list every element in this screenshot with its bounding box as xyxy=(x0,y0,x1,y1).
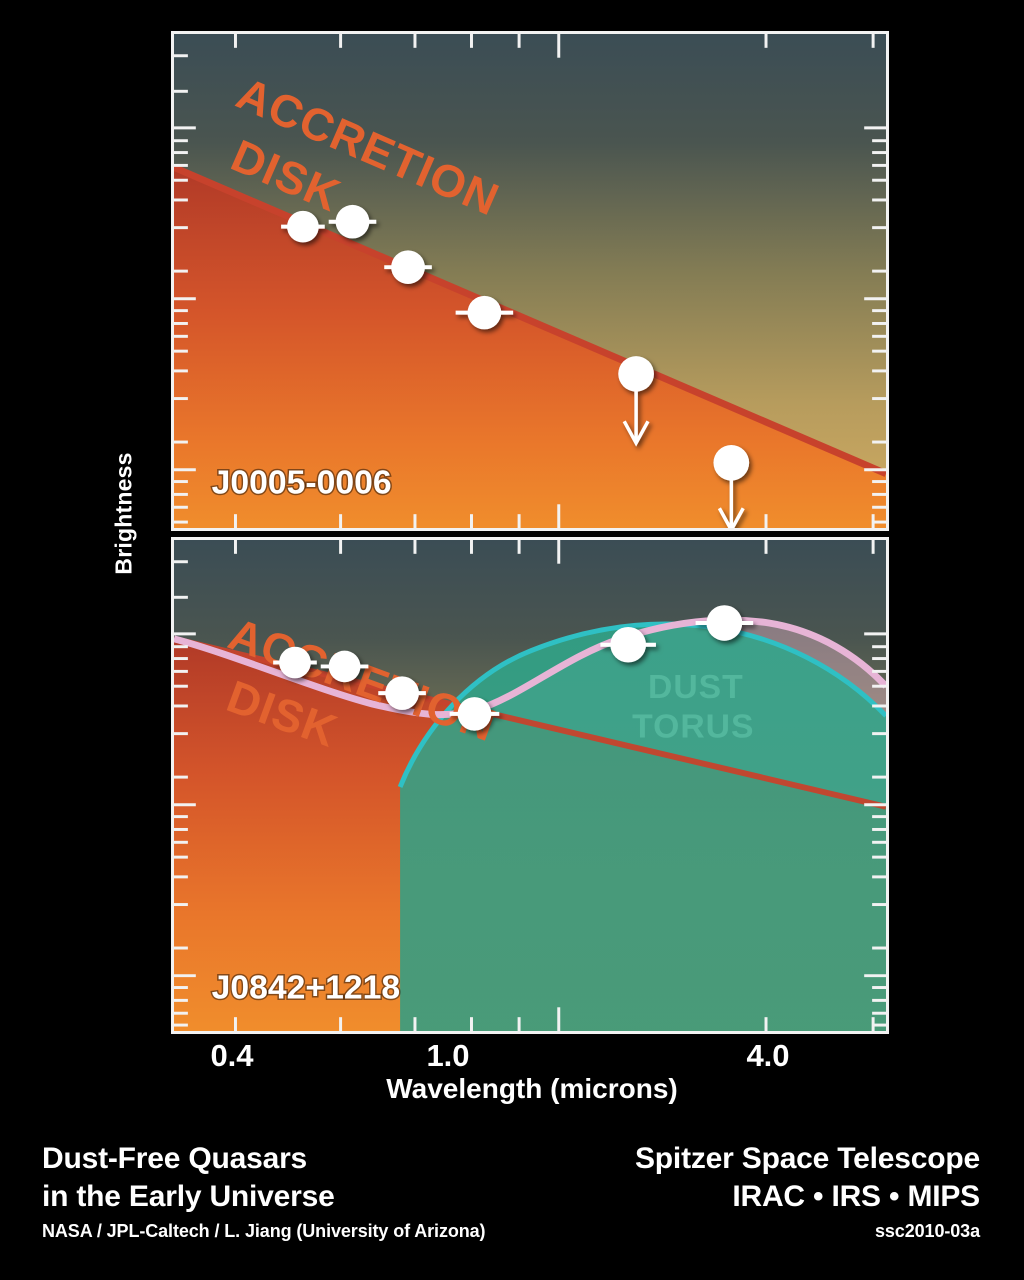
credits-bar: Dust-Free Quasars in the Early Universe … xyxy=(0,1140,1024,1265)
plot-svg-top: ACCRETION DISK xyxy=(174,34,886,528)
figure-root: ACCRETION DISK xyxy=(0,0,1024,1280)
credits-right: Spitzer Space Telescope IRAC • IRS • MIP… xyxy=(635,1140,980,1246)
release-id: ssc2010-03a xyxy=(635,1216,980,1246)
x-tick-label-2: 4.0 xyxy=(708,1038,828,1074)
x-tick-label-0: 0.4 xyxy=(172,1038,292,1074)
plot-svg-bottom: ACCRETION DISK DUST TORUS xyxy=(174,540,886,1031)
svg-text:DUST: DUST xyxy=(648,669,744,706)
x-tick-label-1: 1.0 xyxy=(388,1038,508,1074)
credits-title-line1: Dust-Free Quasars xyxy=(42,1140,485,1178)
telescope-name: Spitzer Space Telescope xyxy=(635,1140,980,1178)
credits-left: Dust-Free Quasars in the Early Universe … xyxy=(42,1140,485,1246)
object-label-bottom: J0842+1218 xyxy=(212,969,400,1006)
object-label-top: J0005-0006 xyxy=(212,464,392,501)
y-axis-label: Brightness xyxy=(111,384,138,644)
credits-attribution: NASA / JPL-Caltech / L. Jiang (Universit… xyxy=(42,1216,485,1246)
plot-panel-bottom[interactable]: ACCRETION DISK DUST TORUS xyxy=(171,537,889,1034)
instrument-list: IRAC • IRS • MIPS xyxy=(635,1178,980,1216)
svg-text:TORUS: TORUS xyxy=(632,709,754,746)
plot-panel-top[interactable]: ACCRETION DISK xyxy=(171,31,889,531)
credits-title-line2: in the Early Universe xyxy=(42,1178,485,1216)
x-axis-label: Wavelength (microns) xyxy=(182,1073,882,1105)
